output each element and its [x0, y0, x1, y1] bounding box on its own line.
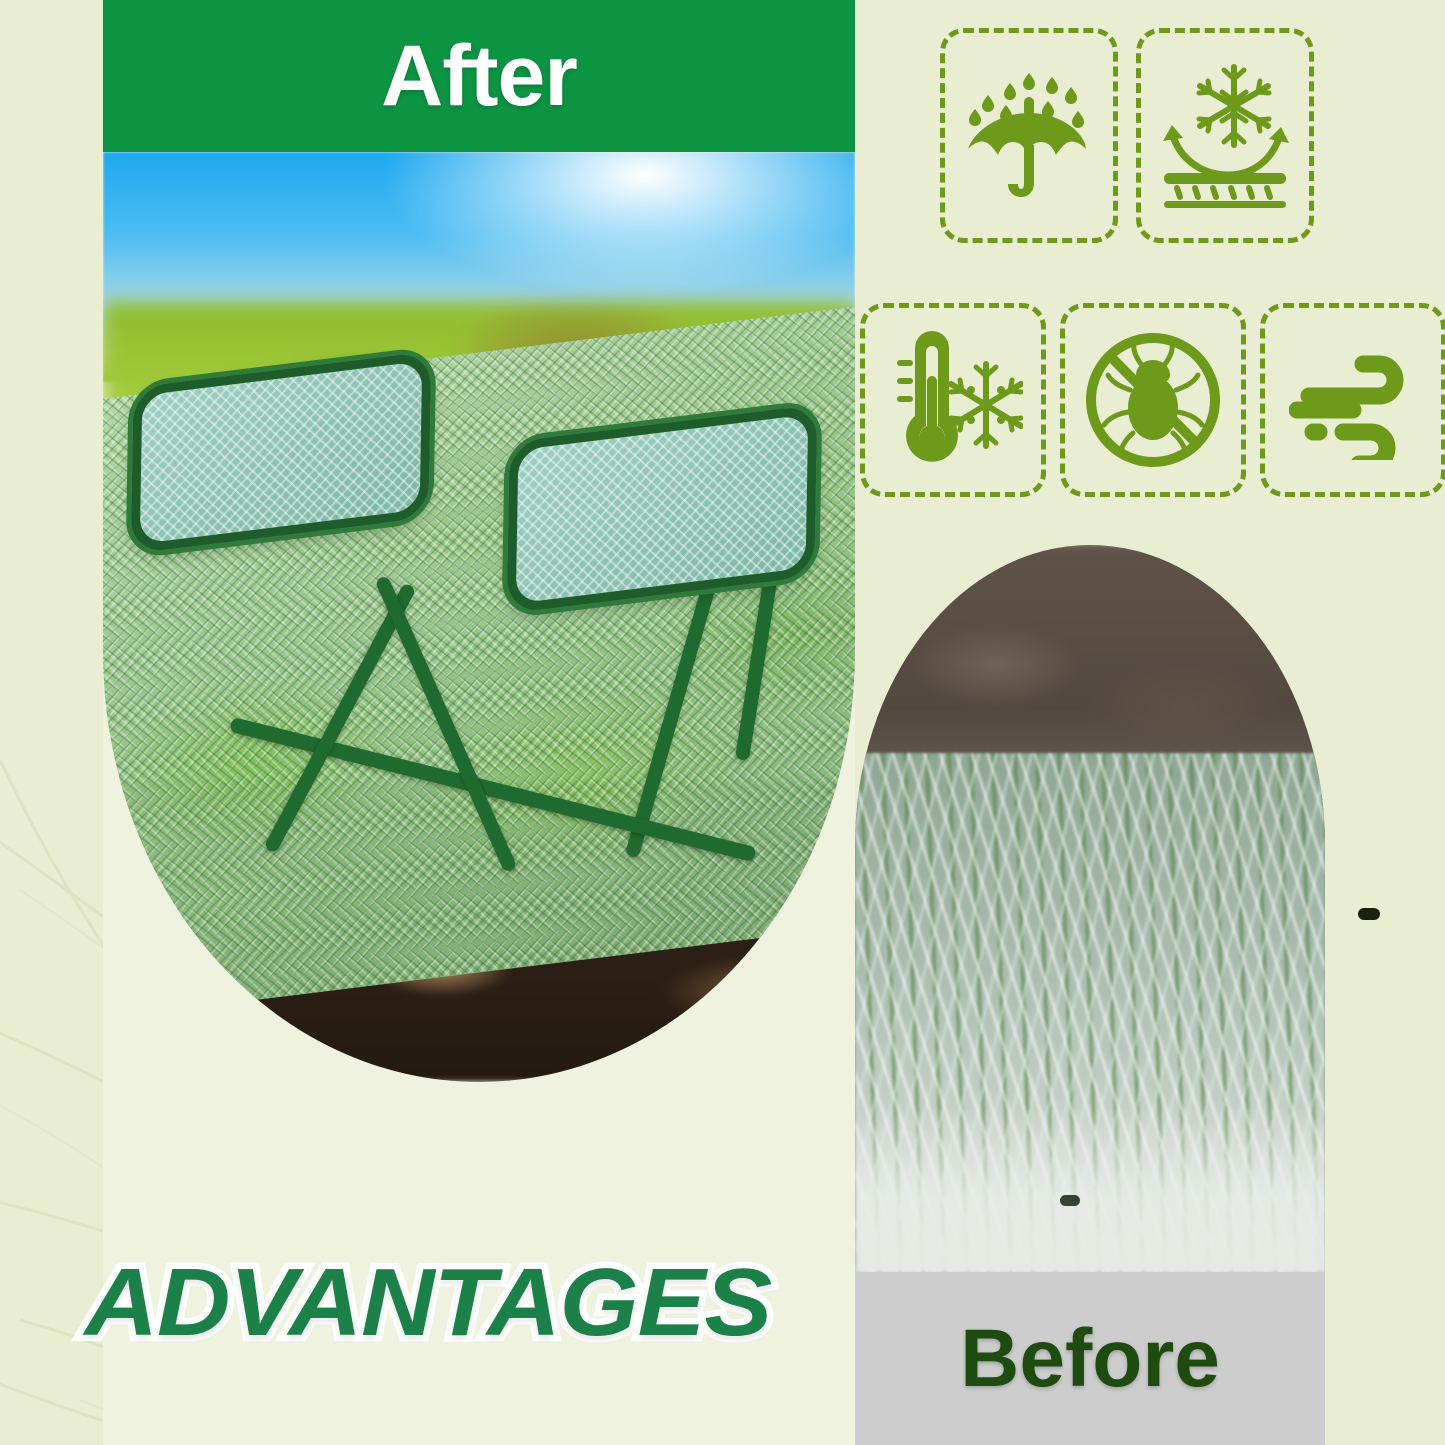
dash-marker: [1358, 908, 1380, 920]
no-bug-icon: [1083, 330, 1223, 470]
feature-icon-box-pest-protection: [1060, 303, 1246, 497]
after-label: After: [381, 33, 577, 119]
snow-foreground: [855, 1103, 1325, 1273]
feature-icon-row: [860, 303, 1445, 497]
wind-lines-icon: [1289, 340, 1417, 460]
after-panel: After: [103, 0, 855, 1445]
feature-icon-row: [940, 28, 1314, 243]
feature-icon-box-frost-insulation: [1136, 28, 1314, 243]
feature-icon-box-windproof: [1260, 303, 1445, 497]
before-photo: [855, 545, 1325, 1273]
after-photo: [103, 152, 855, 1082]
after-banner: After: [103, 0, 855, 152]
debris-speck: [1060, 1195, 1080, 1206]
feature-icon-grid: [860, 28, 1435, 510]
umbrella-rain-icon: [966, 61, 1092, 211]
snowflake-fabric-arrows-icon: [1158, 61, 1292, 211]
feature-icon-box-waterproof: [940, 28, 1118, 243]
product-infographic-poster: After Before: [0, 0, 1445, 1445]
thermometer-snowflake-icon: [883, 330, 1023, 470]
before-label: Before: [960, 1318, 1220, 1400]
feature-icon-box-temperature: [860, 303, 1046, 497]
before-banner: Before: [855, 1272, 1325, 1445]
